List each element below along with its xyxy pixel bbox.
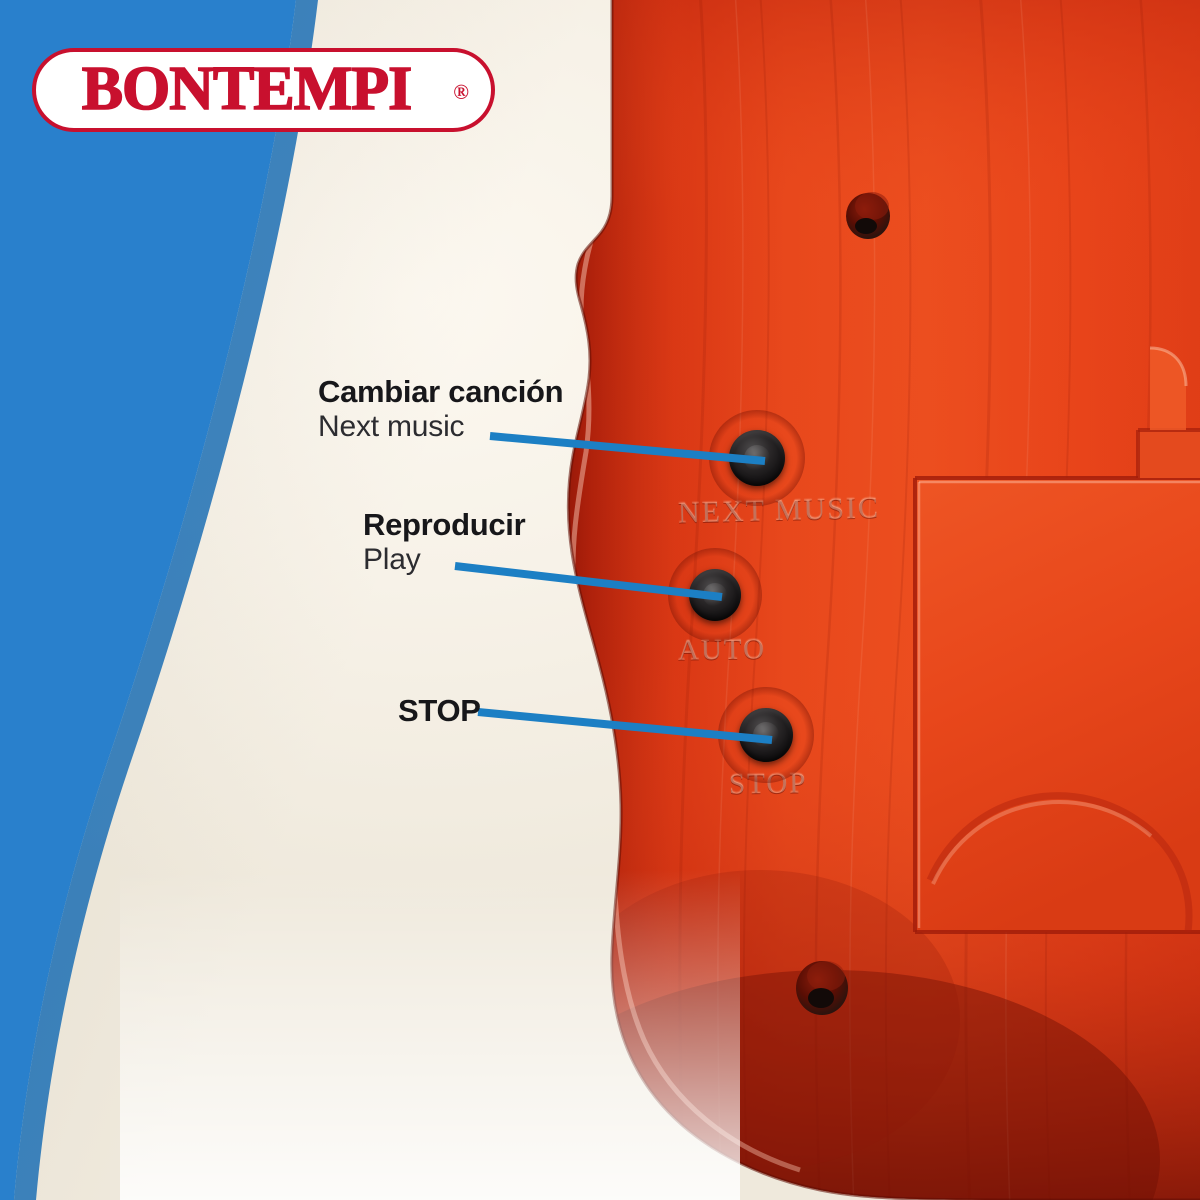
callout-stop: STOP: [398, 694, 481, 729]
callout-play: Reproducir Play: [363, 508, 525, 577]
bontempi-logo: BONTEMPI ®: [32, 48, 495, 132]
callout-next-music-subtitle: Next music: [318, 410, 563, 445]
logo-wordmark: BONTEMPI: [32, 58, 495, 120]
stop-button[interactable]: [739, 708, 793, 762]
callout-next-music: Cambiar canción Next music: [318, 375, 563, 444]
callout-stop-title: STOP: [398, 694, 481, 729]
callout-play-subtitle: Play: [363, 543, 525, 578]
blue-swoosh-shape: [0, 0, 360, 1200]
callout-next-music-title: Cambiar canción: [318, 375, 563, 410]
callout-play-title: Reproducir: [363, 508, 525, 543]
screw-bottom: [796, 961, 848, 1015]
registered-trademark-icon: ®: [453, 82, 469, 103]
next-music-button[interactable]: [729, 430, 785, 486]
play-button[interactable]: [689, 569, 741, 621]
infographic-canvas: NEXT MUSIC AUTO STOP BONTEMPI ® Cambiar …: [0, 0, 1200, 1200]
